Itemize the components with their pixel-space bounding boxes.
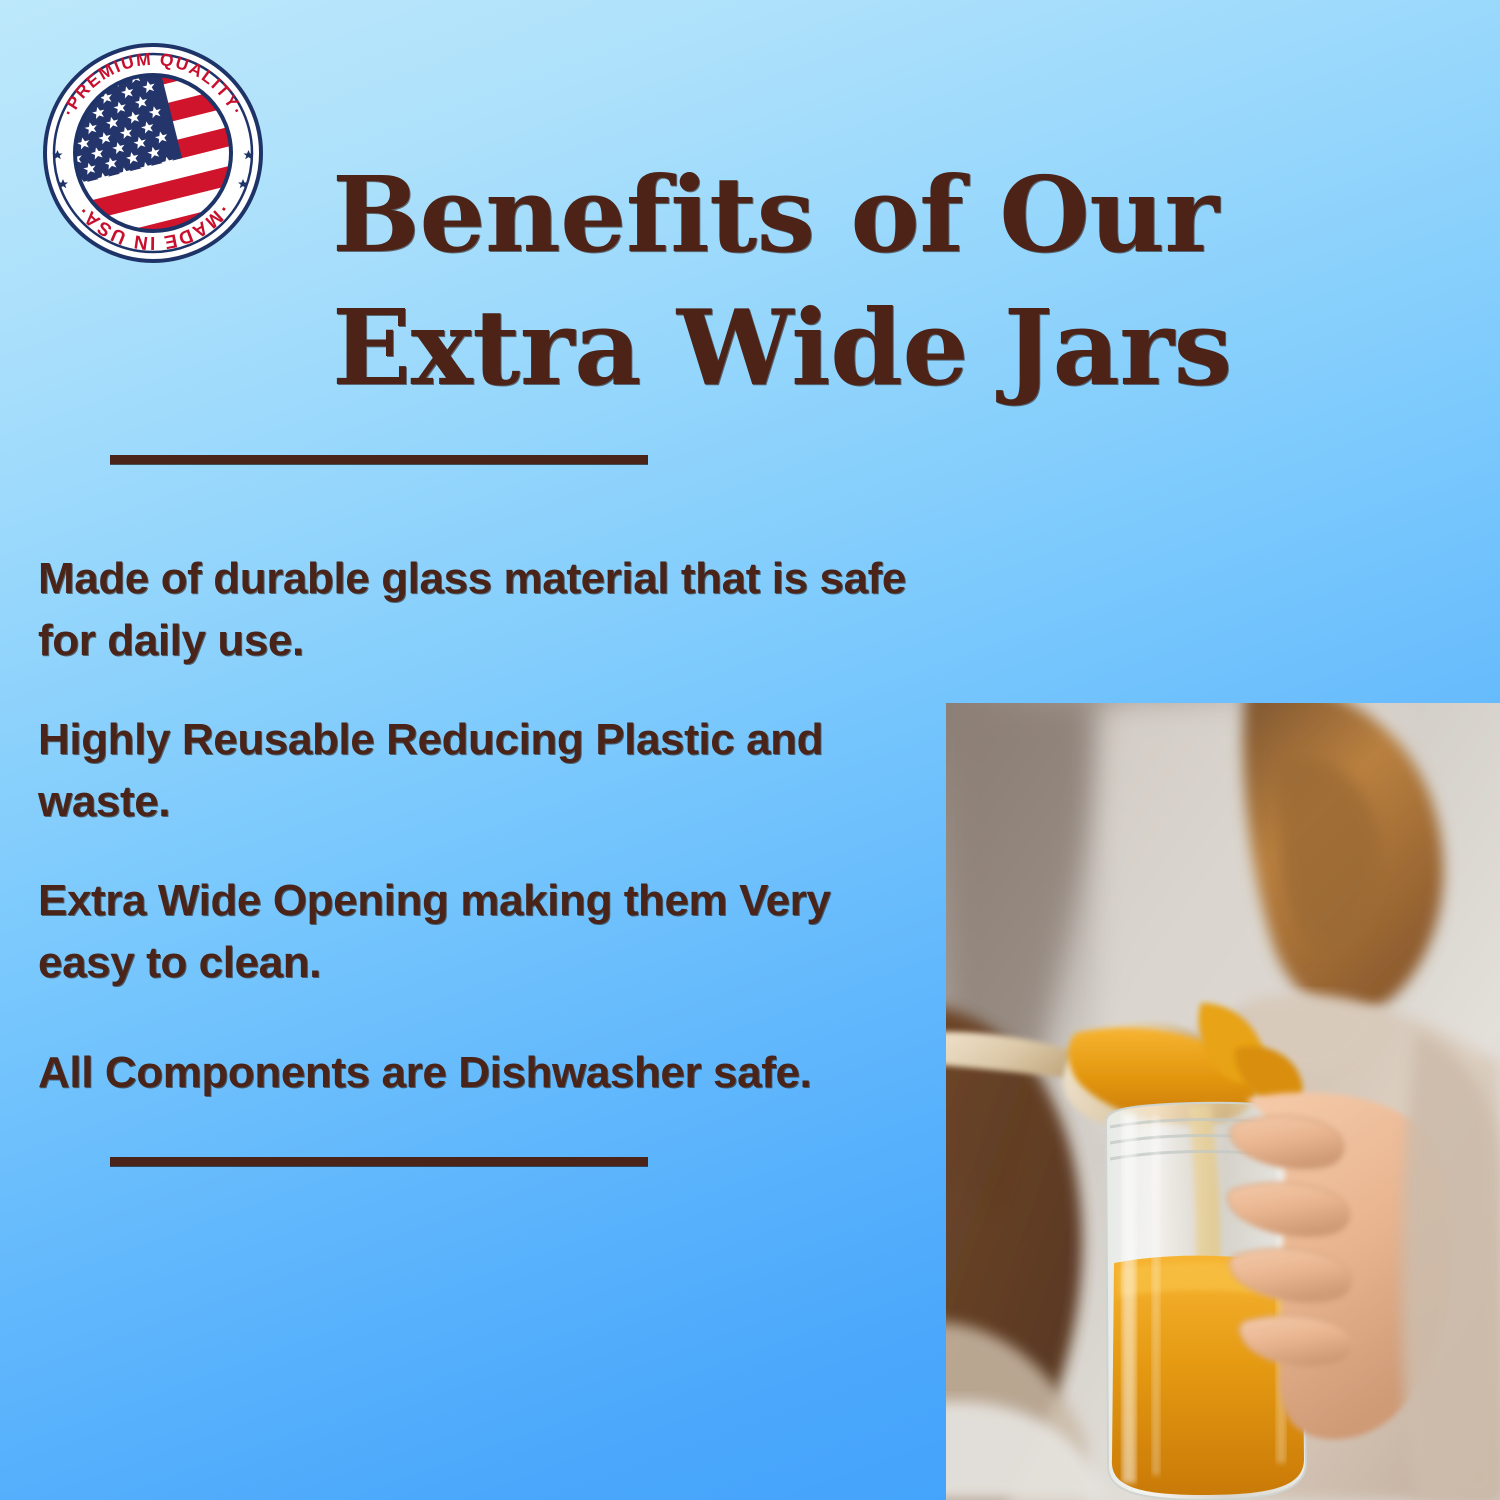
- seal-icon: ·PREMIUM QUALITY· ·MADE IN USA·: [42, 42, 264, 264]
- infographic-canvas: ·PREMIUM QUALITY· ·MADE IN USA· Benefits…: [0, 0, 1500, 1500]
- photo-artwork: [946, 703, 1500, 1500]
- benefit-item-2: Highly Reusable Reducing Plastic and was…: [38, 709, 938, 832]
- benefit-item-3: Extra Wide Opening making them Very easy…: [38, 870, 938, 993]
- divider-top: [110, 455, 648, 464]
- divider-bottom: [110, 1157, 648, 1166]
- page-title-line-2: Extra Wide Jars: [332, 281, 1212, 414]
- benefits-list: Made of durable glass material that is s…: [38, 548, 938, 1103]
- page-title-line-1: Benefits of Our: [332, 148, 1212, 281]
- lifestyle-photo: [946, 703, 1500, 1500]
- benefit-item-1: Made of durable glass material that is s…: [38, 548, 938, 671]
- made-in-usa-badge: ·PREMIUM QUALITY· ·MADE IN USA·: [42, 42, 264, 264]
- benefit-item-4: All Components are Dishwasher safe.: [38, 1042, 938, 1104]
- page-title: Benefits of Our Extra Wide Jars: [332, 148, 1212, 414]
